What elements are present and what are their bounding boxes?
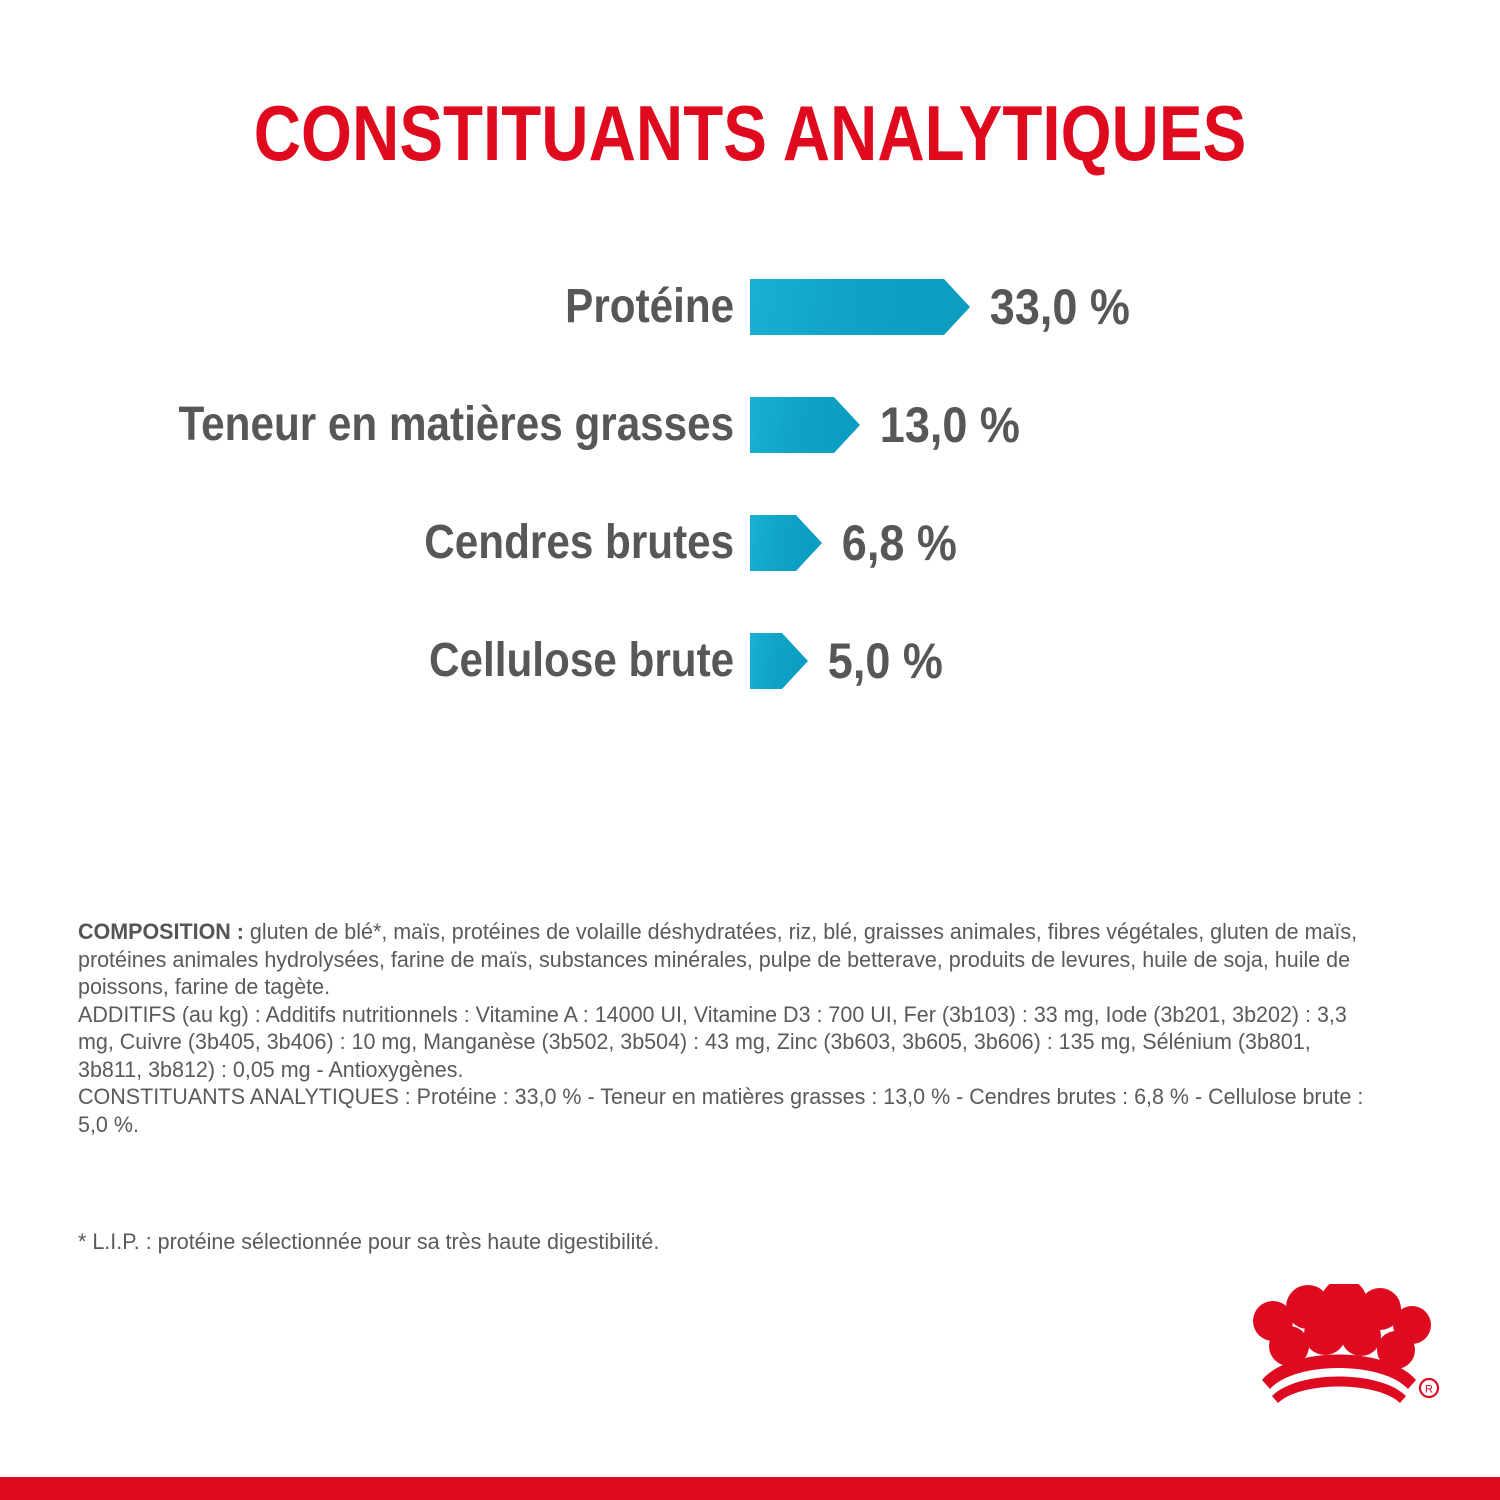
page-title: CONSTITUANTS ANALYTIQUES — [120, 90, 1380, 176]
nutrient-bar-wrap — [750, 515, 822, 571]
bottom-red-bar — [0, 1477, 1500, 1500]
nutrient-label-proteine: Protéine — [90, 277, 750, 337]
svg-text:R: R — [1425, 1384, 1433, 1396]
nutrient-bar-cellulose-brute — [750, 633, 808, 689]
nutrient-value-matieres-grasses: 13,0 % — [860, 395, 1020, 455]
additifs-paragraph: ADDITIFS (au kg) : Additifs nutritionnel… — [78, 1001, 1365, 1084]
nutrient-value-cellulose-brute: 5,0 % — [808, 631, 943, 691]
nutrient-row: Cendres brutes 6,8 % — [0, 512, 1500, 574]
royal-canin-crown-logo: R — [1232, 1284, 1448, 1410]
constituants-paragraph: CONSTITUANTS ANALYTIQUES : Protéine : 33… — [78, 1083, 1365, 1138]
nutrient-row: Protéine 33,0 % — [0, 276, 1500, 338]
nutrient-bar-matieres-grasses — [750, 397, 860, 453]
nutrient-bar-cendres-brutes — [750, 515, 822, 571]
nutrient-bar-proteine — [750, 279, 970, 335]
lip-footnote: * L.I.P. : protéine sélectionnée pour sa… — [78, 1228, 659, 1256]
nutrient-label-matieres-grasses: Teneur en matières grasses — [90, 395, 750, 455]
nutrient-value-proteine: 33,0 % — [970, 277, 1130, 337]
composition-heading: COMPOSITION : — [78, 919, 244, 944]
composition-paragraph: COMPOSITION : gluten de blé*, maïs, prot… — [78, 918, 1365, 1001]
nutrient-bar-wrap — [750, 279, 970, 335]
nutrient-row: Cellulose brute 5,0 % — [0, 630, 1500, 692]
nutrient-bar-wrap — [750, 397, 860, 453]
nutrient-bar-wrap — [750, 633, 808, 689]
nutrient-label-cendres-brutes: Cendres brutes — [90, 513, 750, 573]
analytical-constituents-chart: Protéine 33,0 % Teneur en matières grass… — [0, 276, 1500, 692]
nutrient-row: Teneur en matières grasses 13,0 % — [0, 394, 1500, 456]
composition-text-block: COMPOSITION : gluten de blé*, maïs, prot… — [78, 918, 1365, 1138]
nutrient-value-cendres-brutes: 6,8 % — [822, 513, 957, 573]
composition-body: gluten de blé*, maïs, protéines de volai… — [78, 919, 1357, 999]
nutrient-label-cellulose-brute: Cellulose brute — [90, 631, 750, 691]
